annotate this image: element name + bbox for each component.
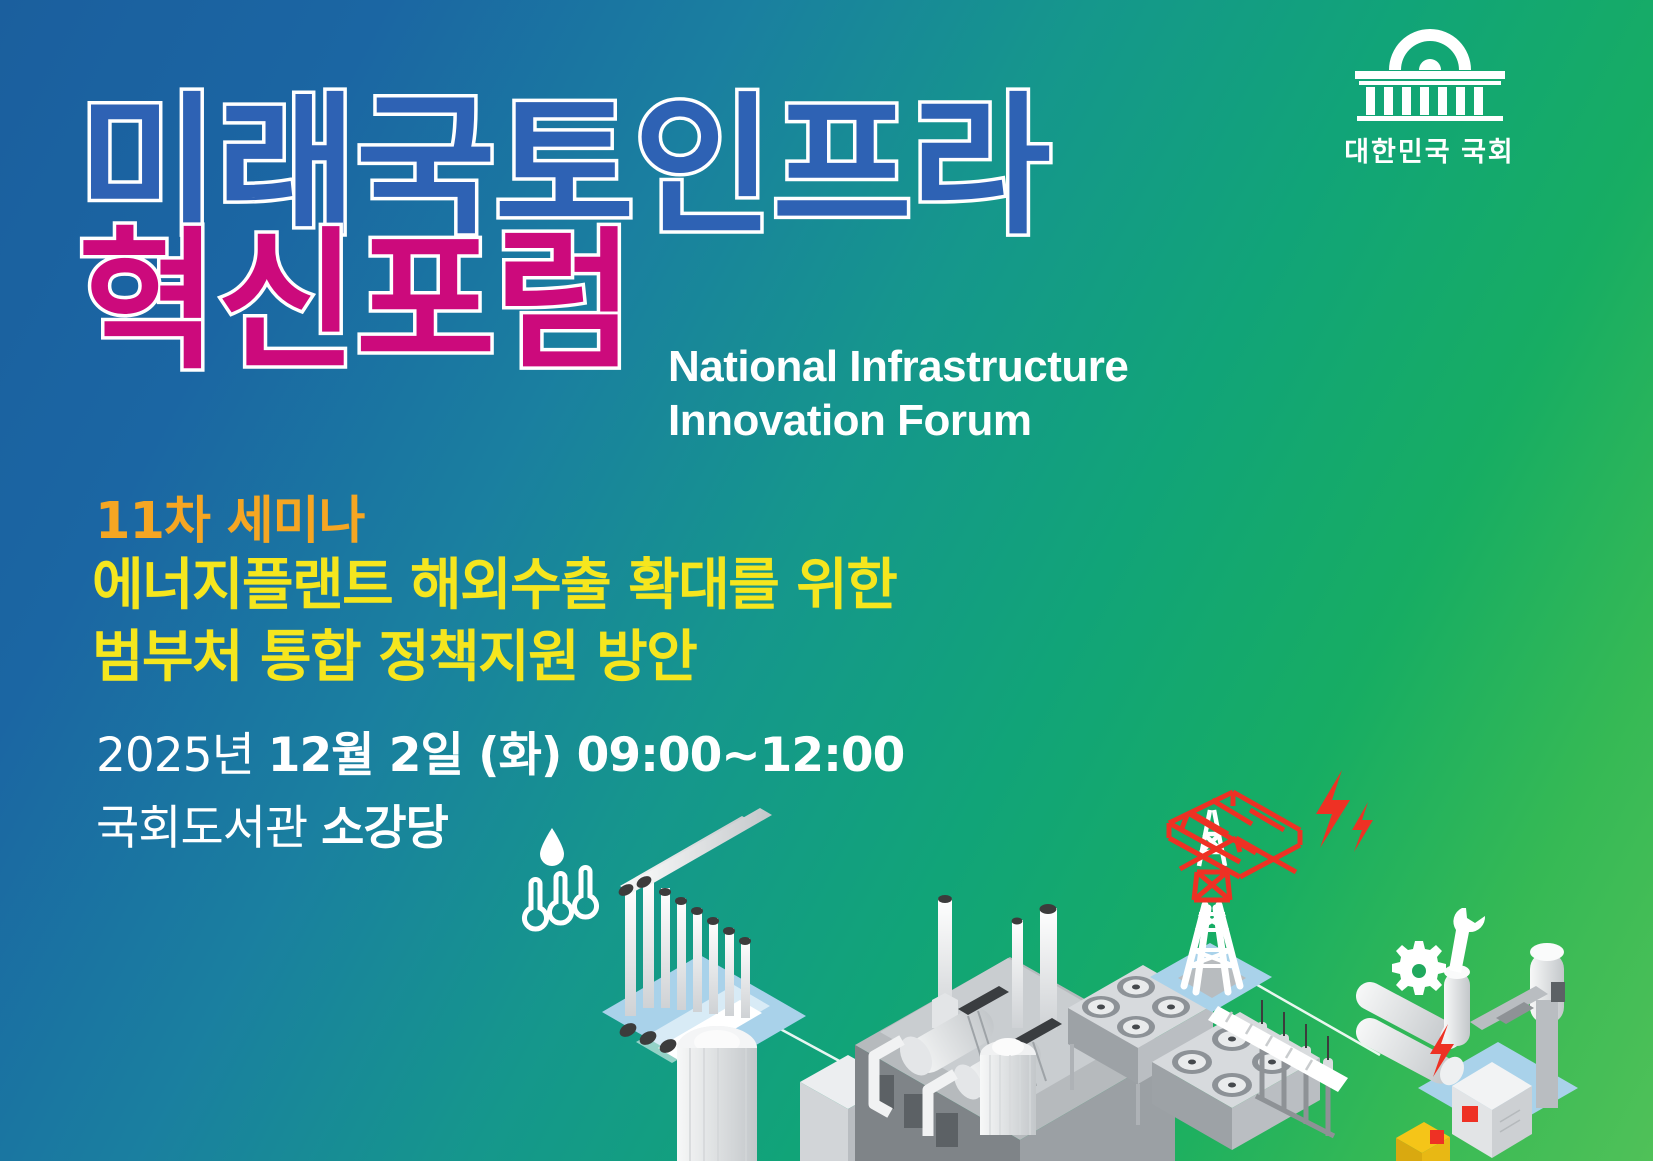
national-assembly-building-icon (1341, 24, 1519, 124)
seminar-topic: 에너지플랜트 해외수출 확대를 위한 범부처 통합 정책지원 방안 (92, 550, 896, 693)
schedule-datetime: 2025년 12월 2일 (화) 09:00~12:00 (96, 724, 904, 787)
seminar-topic-line-1: 에너지플랜트 해외수출 확대를 위한 (92, 550, 896, 622)
seminar-number: 11차 세미나 (95, 479, 364, 553)
emblem-label: 대한민국 국회 (1344, 130, 1515, 169)
venue-building: 국회도서관 (96, 801, 321, 856)
title-line-korean-2: 혁신포럼 (78, 231, 633, 372)
seminar-topic-line-2: 범부처 통합 정책지원 방안 (92, 622, 896, 694)
schedule-venue: 국회도서관 소강당 (96, 789, 448, 858)
english-title: National Infrastructure Innovation Forum (668, 340, 1128, 447)
schedule-year: 2025년 (96, 728, 268, 783)
english-title-line-1: National Infrastructure (668, 340, 1128, 394)
main-title: 미래국토인프라 혁신포럼 (78, 96, 1098, 373)
national-assembly-emblem: 대한민국 국회 (1322, 24, 1537, 169)
venue-hall: 소강당 (321, 801, 448, 856)
poster-root: 대한민국 국회 미래국토인프라 혁신포럼 National Infrastruc… (0, 0, 1653, 1161)
schedule-month-day-time: 12월 2일 (화) 09:00~12:00 (268, 728, 904, 783)
english-title-line-2: Innovation Forum (668, 394, 1128, 448)
